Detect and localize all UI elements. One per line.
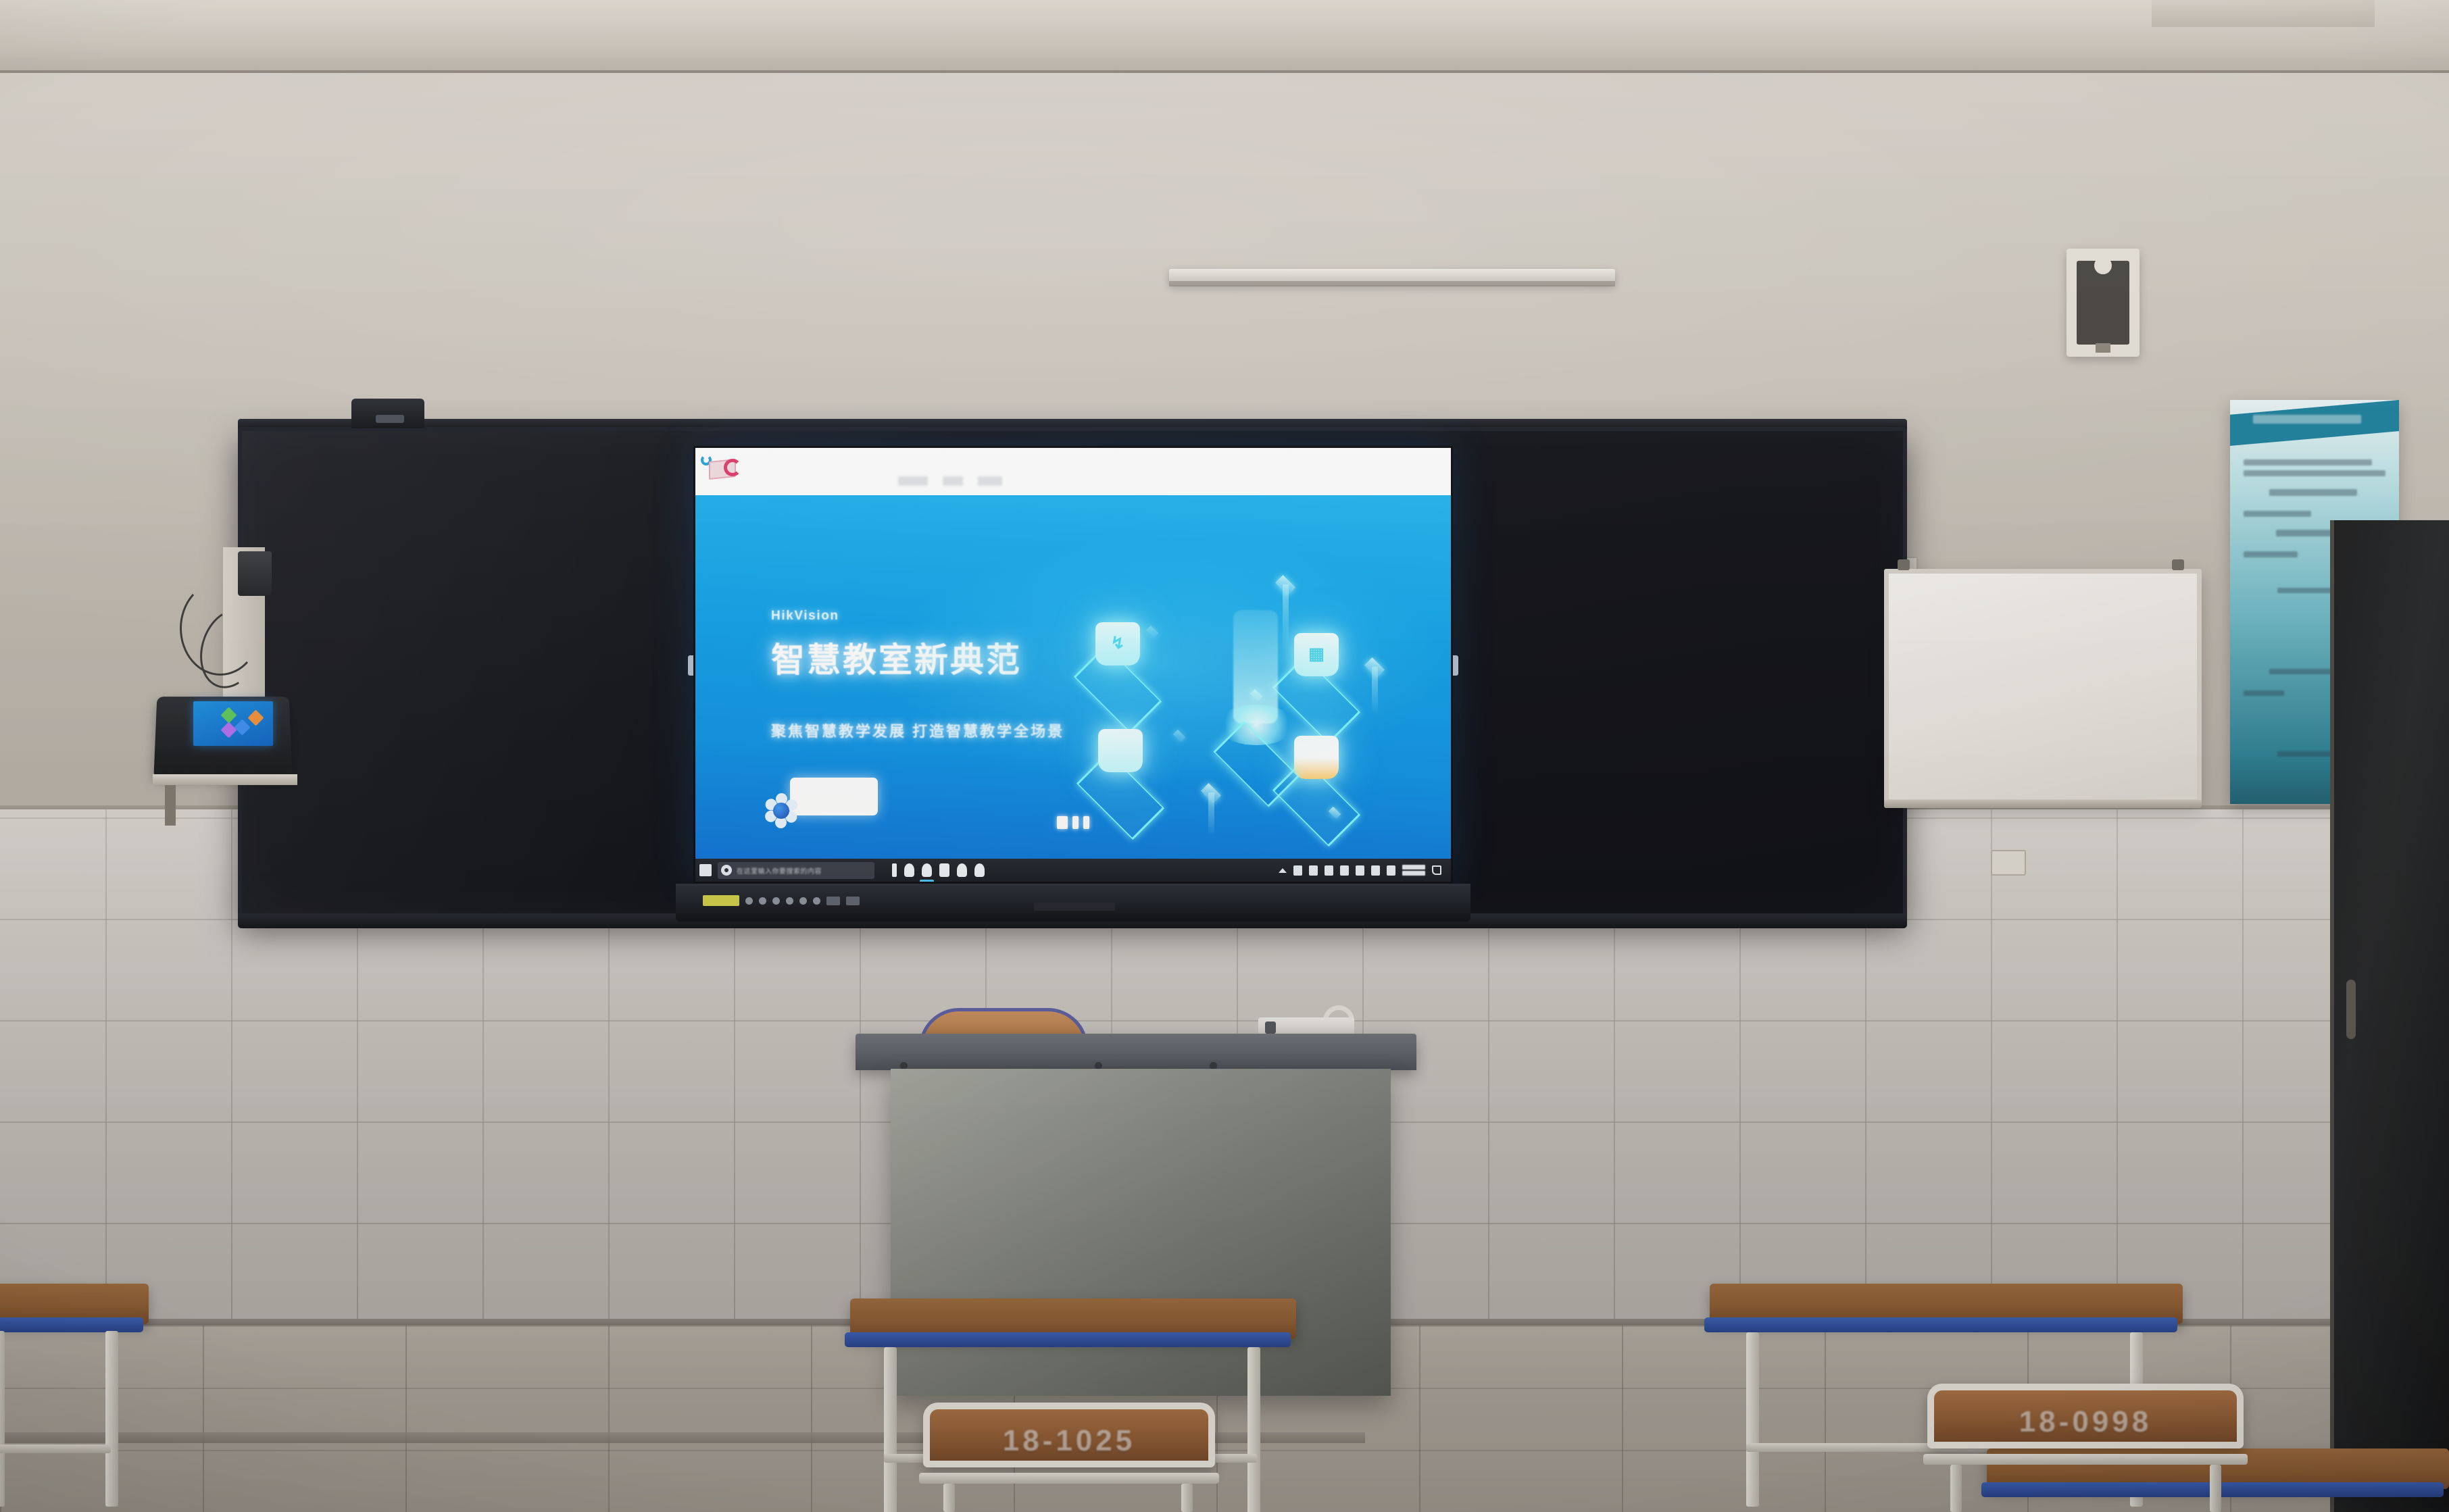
mail-icon[interactable] <box>957 863 967 877</box>
student-desk-far-left <box>0 1284 149 1507</box>
source-button-icon[interactable] <box>772 897 780 905</box>
pod-glyph-bottom-left <box>1108 738 1133 761</box>
fluorescent-tube-light <box>1169 269 1615 285</box>
ceiling-fixture <box>2152 0 2375 27</box>
power-button-icon[interactable] <box>745 897 753 905</box>
door-handle-icon[interactable] <box>2346 980 2356 1039</box>
network-icon[interactable] <box>1325 865 1333 876</box>
vol-down-button-icon[interactable] <box>786 897 793 905</box>
edge-icon[interactable] <box>904 863 914 877</box>
wall-speaker-box <box>2067 249 2139 357</box>
control-tablet-screen[interactable] <box>193 701 273 746</box>
menu-button-icon[interactable] <box>759 897 766 905</box>
input-method-icon[interactable] <box>1387 865 1395 876</box>
window-control-dots[interactable] <box>1057 816 1089 829</box>
volume-icon[interactable] <box>1371 865 1380 876</box>
chair-asset-tag-right: 18-0998 <box>2019 1405 2152 1439</box>
document-with-red-ring-icon <box>705 453 741 483</box>
battery-icon[interactable] <box>1356 865 1364 876</box>
hdmi-port-icon[interactable] <box>846 897 860 905</box>
whiteboard-marker-tray <box>1884 800 2202 808</box>
pod-glyph-top-right: ▦ <box>1304 642 1329 665</box>
home-button-icon[interactable] <box>813 897 820 905</box>
show-hidden-icons-chevron[interactable] <box>1279 868 1287 873</box>
splash-desktop[interactable]: HikVision 智慧教室新典范 聚焦智慧教学发展 打造智慧教学全场景 <box>695 495 1451 859</box>
classroom-door[interactable] <box>2330 520 2449 1512</box>
header-menu-items[interactable] <box>898 476 1002 486</box>
brand-label: HikVision <box>771 609 1022 624</box>
security-shield-icon[interactable] <box>1309 865 1318 876</box>
onedrive-icon[interactable] <box>1293 865 1302 876</box>
splash-subline: 聚焦智慧教学发展 打造智慧教学全场景 <box>771 720 1064 741</box>
pod-glyph-bottom-right <box>1304 745 1329 768</box>
vol-up-button-icon[interactable] <box>799 897 807 905</box>
ceiling <box>0 0 2449 74</box>
panel-spec-label <box>703 895 739 906</box>
windows-taskbar[interactable]: 在这里输入你要搜索的内容 <box>695 859 1451 882</box>
clock-date <box>1402 871 1425 876</box>
panel-brand-plate <box>1034 903 1115 911</box>
chair-asset-tag-left: 18-1025 <box>1003 1424 1135 1458</box>
whiteboard-hook-left <box>1898 559 1910 570</box>
pod-glyph-top-left: ↯ <box>1105 632 1131 655</box>
student-chair-left: 18-1025 <box>923 1403 1215 1512</box>
usb-port-icon[interactable] <box>826 897 840 905</box>
classroom-scene: HikVision 智慧教室新典范 聚焦智慧教学发展 打造智慧教学全场景 <box>0 0 2449 1512</box>
ceiling-camera-icon <box>351 399 424 428</box>
app-window-header <box>695 448 1451 495</box>
panel-control-strip[interactable] <box>703 893 960 908</box>
clock-time <box>1402 865 1425 870</box>
store-icon[interactable] <box>939 863 949 877</box>
tablet-shelf <box>153 774 297 785</box>
taskview-icon[interactable] <box>892 863 897 877</box>
student-chair-right: 18-0998 <box>1927 1384 2244 1512</box>
taskbar-clock[interactable] <box>1402 865 1425 876</box>
interactive-flat-panel-screen[interactable]: HikVision 智慧教室新典范 聚焦智慧教学发展 打造智慧教学全场景 <box>693 446 1453 884</box>
splash-headline: 智慧教室新典范 <box>771 633 1022 682</box>
teacher-lectern-top <box>856 1034 1416 1070</box>
search-input[interactable]: 在这里输入你要搜索的内容 <box>718 862 874 879</box>
control-tile-purple[interactable] <box>220 722 237 738</box>
explorer-icon[interactable] <box>922 863 932 877</box>
control-tile-blue[interactable] <box>234 719 250 735</box>
poster-title <box>2253 415 2361 424</box>
blue-flower-notification-icon[interactable] <box>766 795 797 826</box>
camera-lens-icon <box>376 415 404 423</box>
system-tray[interactable] <box>1279 865 1447 876</box>
notification-callout[interactable] <box>790 778 878 815</box>
search-placeholder: 在这里输入你要搜索的内容 <box>737 865 822 876</box>
bluetooth-icon[interactable] <box>1340 865 1349 876</box>
wall-outlet <box>1991 850 2026 876</box>
whiteboard[interactable] <box>1884 569 2202 804</box>
app-icon[interactable] <box>974 863 985 877</box>
cortana-circle-icon[interactable] <box>721 865 732 876</box>
notification-center-icon[interactable] <box>1432 865 1441 875</box>
splash-copy-block: HikVision 智慧教室新典范 <box>771 609 1022 682</box>
tablet-stand-post <box>165 785 176 826</box>
taskbar-pinned-apps[interactable] <box>892 863 985 877</box>
whiteboard-hook-right <box>2172 559 2184 570</box>
isometric-tech-illustration: ↯ ▦ <box>1074 570 1425 859</box>
core-beam-pod <box>1206 610 1308 779</box>
start-button-icon[interactable] <box>699 864 712 876</box>
control-tile-green[interactable] <box>220 707 237 723</box>
control-tile-orange[interactable] <box>247 709 264 726</box>
